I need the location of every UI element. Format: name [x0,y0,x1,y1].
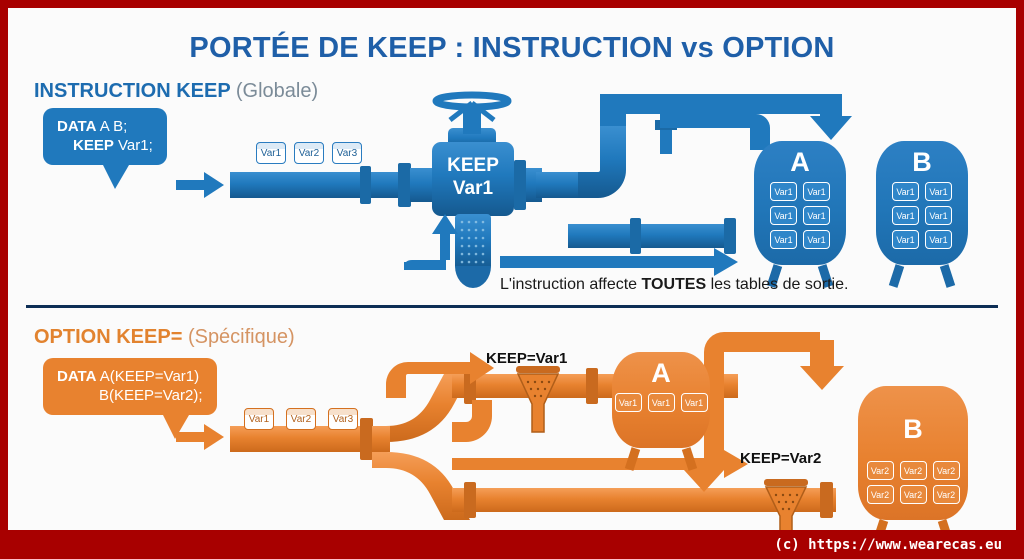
tank-body: A Var1 Var1 Var1 [612,352,710,448]
output-tank-b-blue: B Var1 Var1 Var1 Var1 Var1 Var1 [876,141,968,265]
bubble-tail-option [163,415,189,439]
output-tank-a-blue: A Var1 Var1 Var1 Var1 Var1 Var1 [754,141,846,265]
bubble-tail [103,165,129,189]
tank-leg [940,264,955,288]
tank-chip: Var1 [925,206,952,225]
heading-soft-bottom: (Spécifique) [188,326,295,348]
tank-chip-grid: Var2 Var2 Var2 Var2 Var2 Var2 [858,461,968,504]
code-bubble-option: DATA A(KEEP=Var1) B(KEEP=Var2); [43,358,217,415]
tank-leg [682,447,697,471]
tank-leg [625,447,640,471]
tank-letter: B [912,149,932,176]
valve-label: KEEP Var1 [432,154,514,200]
tank-chip: Var1 [892,206,919,225]
bubble-keyword-option: DATA [57,368,96,385]
bubble-keyword-2: KEEP [73,137,114,154]
tank-letter: A [651,360,671,387]
tank-chip: Var1 [681,393,708,412]
tank-leg [938,519,953,530]
bubble-text-2: Var1; [114,137,153,154]
caption-before: L'option cible [442,529,539,530]
section-heading-instruction: INSTRUCTION KEEP (Globale) [34,80,318,103]
bubble-line-1-option: DATA A(KEEP=Var1) [57,367,203,386]
pipe-chip: Var3 [332,142,362,164]
pipe-chips-bottom: Var1 Var2 Var3 [244,408,358,430]
tank-chip: Var2 [933,461,960,480]
tank-chip: Var1 [925,230,952,249]
tank-chip: Var1 [803,230,830,249]
tank-chip: Var2 [867,485,894,504]
pipe-chip: Var3 [328,408,358,430]
tank-chip: Var1 [892,182,919,201]
tank-body: B Var1 Var1 Var1 Var1 Var1 Var1 [876,141,968,265]
heading-strong-top: INSTRUCTION KEEP [34,80,230,102]
pipe-chip: Var2 [286,408,316,430]
tank-chip: Var1 [803,182,830,201]
pipe-chip: Var2 [294,142,324,164]
tank-legs [858,520,968,530]
tank-body: A Var1 Var1 Var1 Var1 Var1 Var1 [754,141,846,265]
section-divider [26,305,998,308]
tank-leg [889,264,904,288]
tank-legs [876,265,968,285]
caption-after: la table spécifiée. [647,529,775,530]
pipe-chip: Var1 [244,408,274,430]
tank-letter: B [903,416,923,443]
tank-chip: Var2 [867,461,894,480]
tank-chip-grid: Var1 Var1 Var1 Var1 Var1 Var1 [876,182,968,249]
bubble-keyword: DATA [57,118,96,135]
valve-label-line2: Var1 [432,177,514,200]
bubble-line-1: DATA A B; [57,117,153,136]
tank-chip: Var2 [933,485,960,504]
tank-leg [873,519,888,530]
funnel-keep-var1-icon [516,366,560,432]
tank-chip: Var2 [900,485,927,504]
section-heading-option: OPTION KEEP= (Spécifique) [34,326,295,349]
bubble-text-option: A(KEEP=Var1) [96,368,199,385]
filter-label-keep-var1: KEEP=Var1 [486,350,567,367]
bubble-text-option-2: B(KEEP=Var2); [99,387,203,404]
filter-label-keep-var2: KEEP=Var2 [740,450,821,467]
tank-chip: Var1 [770,182,797,201]
tank-legs [612,448,710,468]
output-tank-b-orange: B Var2 Var2 Var2 Var2 Var2 Var2 [858,386,968,520]
caption-before: L'instruction affecte [500,276,642,293]
tank-chip: Var2 [900,461,927,480]
heading-soft-top: (Globale) [236,80,318,102]
heading-strong-bottom: OPTION KEEP= [34,326,182,348]
caption-after: les tables de sortie. [706,276,848,293]
pipe-chips-top: Var1 Var2 Var3 [256,142,362,164]
top-lower-feed [500,218,738,276]
infographic-inner: PORTÉE DE KEEP : INSTRUCTION vs OPTION I… [8,8,1016,530]
caption-option: L'option cible UNIQUEMENT la table spéci… [442,529,775,530]
caption-strong: UNIQUEMENT [539,529,647,530]
caption-instruction: L'instruction affecte TOUTES les tables … [500,276,848,294]
tank-chip: Var1 [803,206,830,225]
top-inlet-arrow [176,172,224,198]
tank-chip-grid: Var1 Var1 Var1 [612,393,710,412]
tank-chip: Var1 [770,230,797,249]
pipe-chip: Var1 [256,142,286,164]
infographic-canvas: PORTÉE DE KEEP : INSTRUCTION vs OPTION I… [0,0,1024,559]
bubble-line-2: KEEP Var1; [57,136,153,155]
tank-chip: Var1 [770,206,797,225]
bubble-line-2-option: B(KEEP=Var2); [57,386,203,405]
tank-chip-grid: Var1 Var1 Var1 Var1 Var1 Var1 [754,182,846,249]
tank-chip: Var1 [648,393,675,412]
code-bubble-instruction: DATA A B; KEEP Var1; [43,108,167,165]
tank-chip: Var1 [925,182,952,201]
output-tank-a-orange: A Var1 Var1 Var1 [612,352,710,448]
tank-letter: A [790,149,810,176]
watermark: (c) https://www.wearecas.eu [0,537,1024,553]
tank-body: B Var2 Var2 Var2 Var2 Var2 Var2 [858,386,968,520]
tank-chip: Var1 [892,230,919,249]
bubble-text: A B; [96,118,127,135]
tank-chip: Var1 [615,393,642,412]
top-recycle-arrow [404,214,458,270]
caption-strong: TOUTES [642,276,707,293]
valve-label-line1: KEEP [432,154,514,177]
page-title: PORTÉE DE KEEP : INSTRUCTION vs OPTION [8,32,1016,65]
